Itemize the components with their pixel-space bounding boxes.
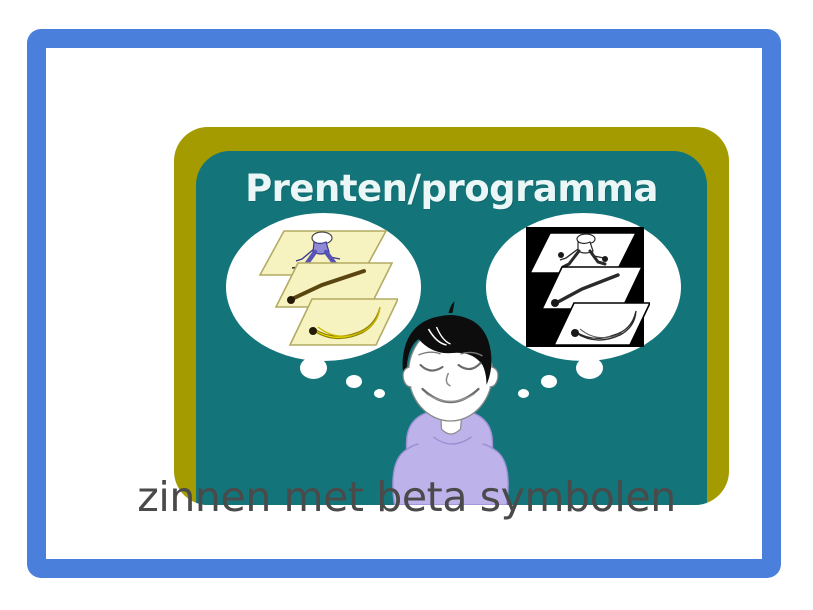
picture-card-panel: Prenten/programma <box>196 151 707 505</box>
card-title: Prenten/programma <box>196 167 707 210</box>
top-left-sparkle-icon <box>60 62 146 148</box>
thought-dot-left-large <box>300 357 327 379</box>
thought-dot-right-large <box>576 357 603 379</box>
picture-card: Prenten/programma <box>174 127 729 505</box>
caption-text: zinnen met beta symbolen <box>0 473 813 521</box>
